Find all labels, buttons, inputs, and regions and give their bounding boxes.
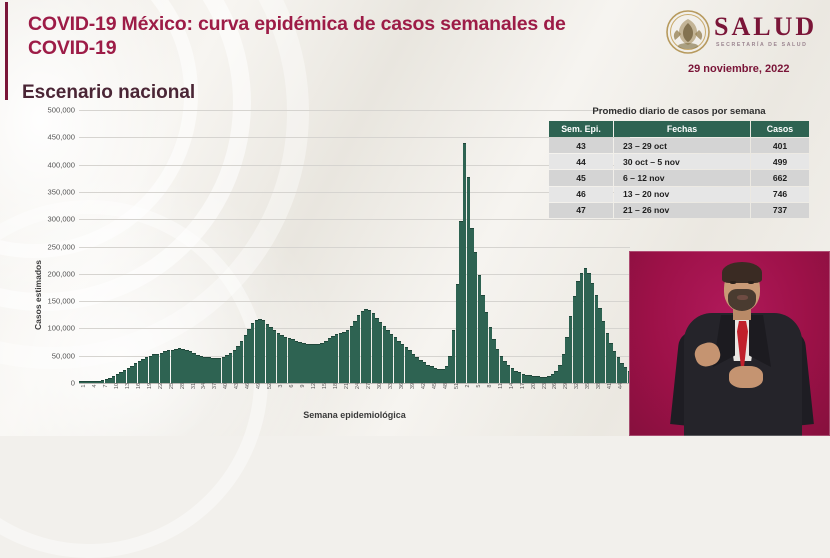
cell-dates: 13 – 20 nov xyxy=(614,187,750,202)
salud-subtitle: SECRETARÍA DE SALUD xyxy=(716,42,808,48)
cell-cases: 662 xyxy=(751,170,809,185)
presenter-panel-border xyxy=(629,251,830,436)
y-tick-label: 250,000 xyxy=(20,242,75,251)
table-body: 4323 – 29 oct4014430 oct – 5 nov499456 –… xyxy=(549,138,809,218)
y-tick-label: 50,000 xyxy=(20,351,75,360)
presenter-video-panel[interactable] xyxy=(629,251,830,436)
column-header-cases: Casos xyxy=(751,121,809,137)
column-header-week: Sem. Epi. xyxy=(549,121,613,137)
header-accent-bar xyxy=(5,2,8,100)
cell-cases: 746 xyxy=(751,187,809,202)
y-tick-label: 400,000 xyxy=(20,160,75,169)
table-row: 4430 oct – 5 nov499 xyxy=(549,154,809,169)
table-row: 4721 – 26 nov737 xyxy=(549,203,809,218)
cell-dates: 6 – 12 nov xyxy=(614,170,750,185)
table-row: 4323 – 29 oct401 xyxy=(549,138,809,153)
y-tick-label: 150,000 xyxy=(20,297,75,306)
cell-cases: 499 xyxy=(751,154,809,169)
y-tick-label: 200,000 xyxy=(20,269,75,278)
table-row: 456 – 12 nov662 xyxy=(549,170,809,185)
section-title: Escenario nacional xyxy=(22,82,195,104)
cell-week: 43 xyxy=(549,138,613,153)
x-axis-title: Semana epidemiológica xyxy=(79,410,630,420)
cell-cases: 737 xyxy=(751,203,809,218)
y-tick-label: 450,000 xyxy=(20,133,75,142)
y-tick-label: 100,000 xyxy=(20,324,75,333)
cases-table: Sem. Epi. Fechas Casos 4323 – 29 oct4014… xyxy=(548,120,810,219)
daily-average-table: Promedio diario de casos por semana Sem.… xyxy=(548,106,810,219)
cell-week: 44 xyxy=(549,154,613,169)
table-row: 4613 – 20 nov746 xyxy=(549,187,809,202)
y-tick-label: 0 xyxy=(20,379,75,388)
salud-logo: SALUD SECRETARÍA DE SALUD 29 noviembre, … xyxy=(652,8,822,94)
cell-week: 45 xyxy=(549,170,613,185)
table-caption: Promedio diario de casos por semana xyxy=(548,106,810,117)
y-tick-label: 350,000 xyxy=(20,187,75,196)
y-axis-ticks: 050,000100,000150,000200,000250,000300,0… xyxy=(20,110,75,390)
column-header-dates: Fechas xyxy=(614,121,750,137)
cell-cases: 401 xyxy=(751,138,809,153)
y-tick-label: 300,000 xyxy=(20,215,75,224)
cell-week: 46 xyxy=(549,187,613,202)
cell-dates: 23 – 29 oct xyxy=(614,138,750,153)
report-date: 29 noviembre, 2022 xyxy=(688,63,790,75)
page-title: COVID-19 México: curva epidémica de caso… xyxy=(28,12,628,61)
cell-week: 47 xyxy=(549,203,613,218)
y-tick-label: 500,000 xyxy=(20,106,75,115)
table-header-row: Sem. Epi. Fechas Casos xyxy=(549,121,809,137)
mexico-eagle-emblem xyxy=(666,10,710,54)
cell-dates: 30 oct – 5 nov xyxy=(614,154,750,169)
salud-wordmark: SALUD xyxy=(714,12,817,42)
cell-dates: 21 – 26 nov xyxy=(614,203,750,218)
